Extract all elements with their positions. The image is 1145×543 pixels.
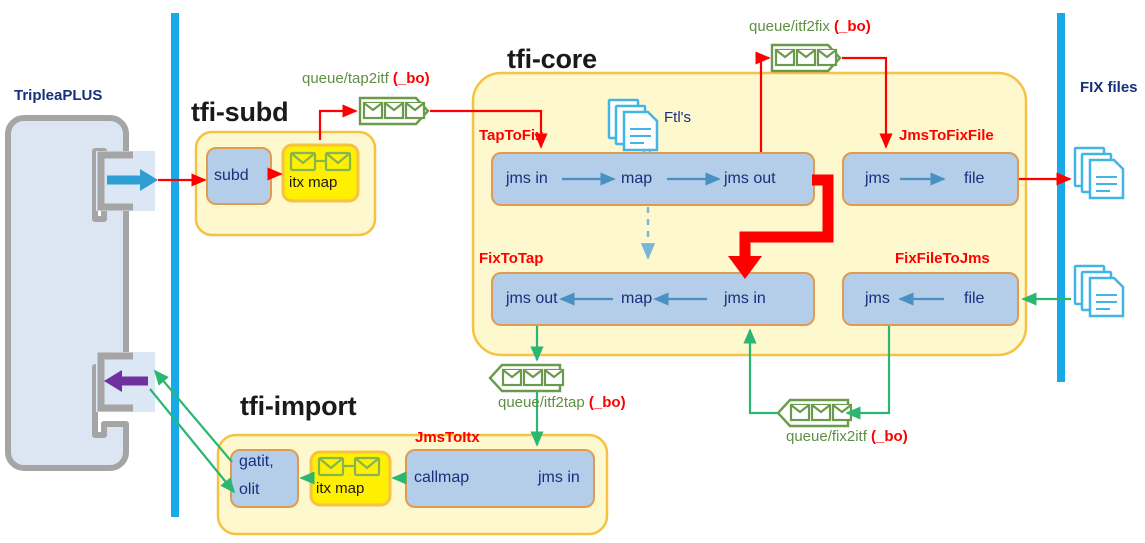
arrow-gatit-to-triplea — [155, 371, 232, 462]
node-label-subd: subd — [214, 168, 249, 184]
queue-name-itf2tap: queue/itf2tap — [498, 394, 585, 411]
step-jmstofixfile-file: file — [964, 171, 984, 187]
flow-label-jmstofixfile: JmsToFixFile — [899, 128, 994, 143]
fix-files-label: FIX files — [1080, 80, 1138, 95]
queue-icon-fix2itf — [778, 400, 851, 426]
step-taptofix-jms-out: jms out — [724, 171, 776, 187]
queue-icon-itf2tap — [490, 365, 563, 391]
node-label-itx-map-subd: itx map — [289, 175, 337, 190]
queue-name-itf2fix: queue/itf2fix — [749, 18, 830, 35]
diagram-svg — [0, 0, 1145, 543]
queue-name-fix2itf: queue/fix2itf — [786, 428, 867, 445]
step-jmstofixfile-jms: jms — [865, 171, 890, 187]
queue-label-fix2itf: queue/fix2itf (_bo) — [786, 429, 908, 444]
fix-files-icon-in — [1075, 266, 1123, 316]
queue-suffix-tap2itf: (_bo) — [389, 70, 430, 87]
fix-files-icon-out — [1075, 148, 1123, 198]
queue-suffix-itf2tap: (_bo) — [585, 394, 626, 411]
step-taptofix-map: map — [621, 171, 652, 187]
ftls-label: Ftl's — [664, 110, 691, 125]
node-label-gatit: gatit, — [239, 454, 274, 470]
flow-label-jmstoitx: JmsToItx — [415, 430, 480, 445]
queue-name-tap2itf: queue/tap2itf — [302, 70, 389, 87]
queue-label-itf2fix: queue/itf2fix (_bo) — [749, 19, 871, 34]
triplea-plus-label: TripleaPLUS — [14, 88, 102, 103]
step-fixfiletojms-jms: jms — [865, 291, 890, 307]
queue-suffix-itf2fix: (_bo) — [830, 18, 871, 35]
queue-icon-tap2itf — [360, 98, 428, 124]
step-taptofix-jms-in: jms in — [506, 171, 548, 187]
queue-suffix-fix2itf: (_bo) — [867, 428, 908, 445]
step-fixtotap-map: map — [621, 291, 652, 307]
queue-label-itf2tap: queue/itf2tap (_bo) — [498, 395, 626, 410]
container-title-tfi-core: tfi-core — [507, 46, 597, 73]
flow-label-fixfiletojms: FixFileToJms — [895, 251, 990, 266]
flow-label-fixtotap: FixToTap — [479, 251, 543, 266]
step-fixtotap-jms-in: jms in — [724, 291, 766, 307]
step-jmstoitx-callmap: callmap — [414, 470, 469, 486]
flow-label-taptofix: TapToFix — [479, 128, 543, 143]
step-jmstoitx-jms-in: jms in — [538, 470, 580, 486]
container-title-tfi-subd: tfi-subd — [191, 99, 288, 126]
queue-label-tap2itf: queue/tap2itf (_bo) — [302, 71, 430, 86]
node-label-olit: olit — [239, 482, 259, 498]
diagram-canvas: TripleaPLUS FIX files tfi-subd tfi-core … — [0, 0, 1145, 543]
node-label-itx-map-import: itx map — [316, 481, 364, 496]
step-fixfiletojms-file: file — [964, 291, 984, 307]
container-title-tfi-import: tfi-import — [240, 393, 356, 420]
queue-icon-itf2fix — [772, 45, 840, 71]
step-fixtotap-jms-out: jms out — [506, 291, 558, 307]
